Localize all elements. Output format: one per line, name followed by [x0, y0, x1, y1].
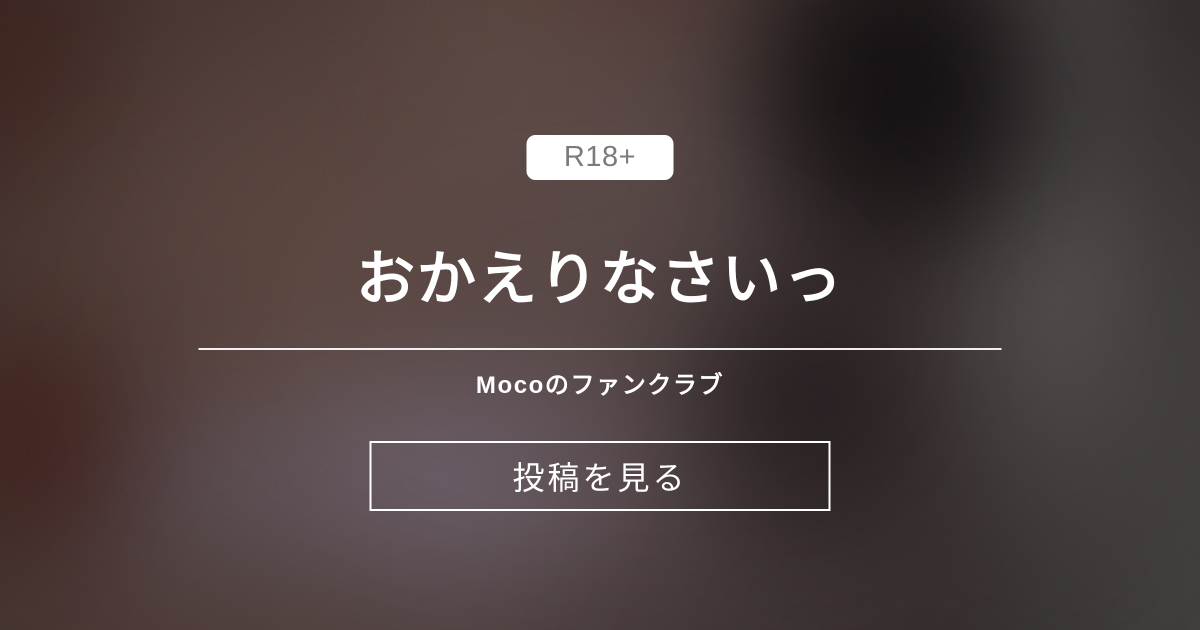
fanclub-banner: R18+ おかえりなさいっ Mocoのファンクラブ 投稿を見る: [0, 0, 1200, 630]
page-title: おかえりなさいっ: [0, 246, 1200, 314]
rating-badge-label: R18+: [564, 141, 636, 174]
divider: [199, 348, 1002, 350]
rating-badge: R18+: [527, 135, 674, 180]
view-posts-button[interactable]: 投稿を見る: [370, 441, 831, 511]
subtitle: Mocoのファンクラブ: [0, 365, 1200, 400]
view-posts-button-label: 投稿を見る: [512, 453, 687, 499]
banner-content: R18+ おかえりなさいっ Mocoのファンクラブ 投稿を見る: [0, 0, 1200, 630]
